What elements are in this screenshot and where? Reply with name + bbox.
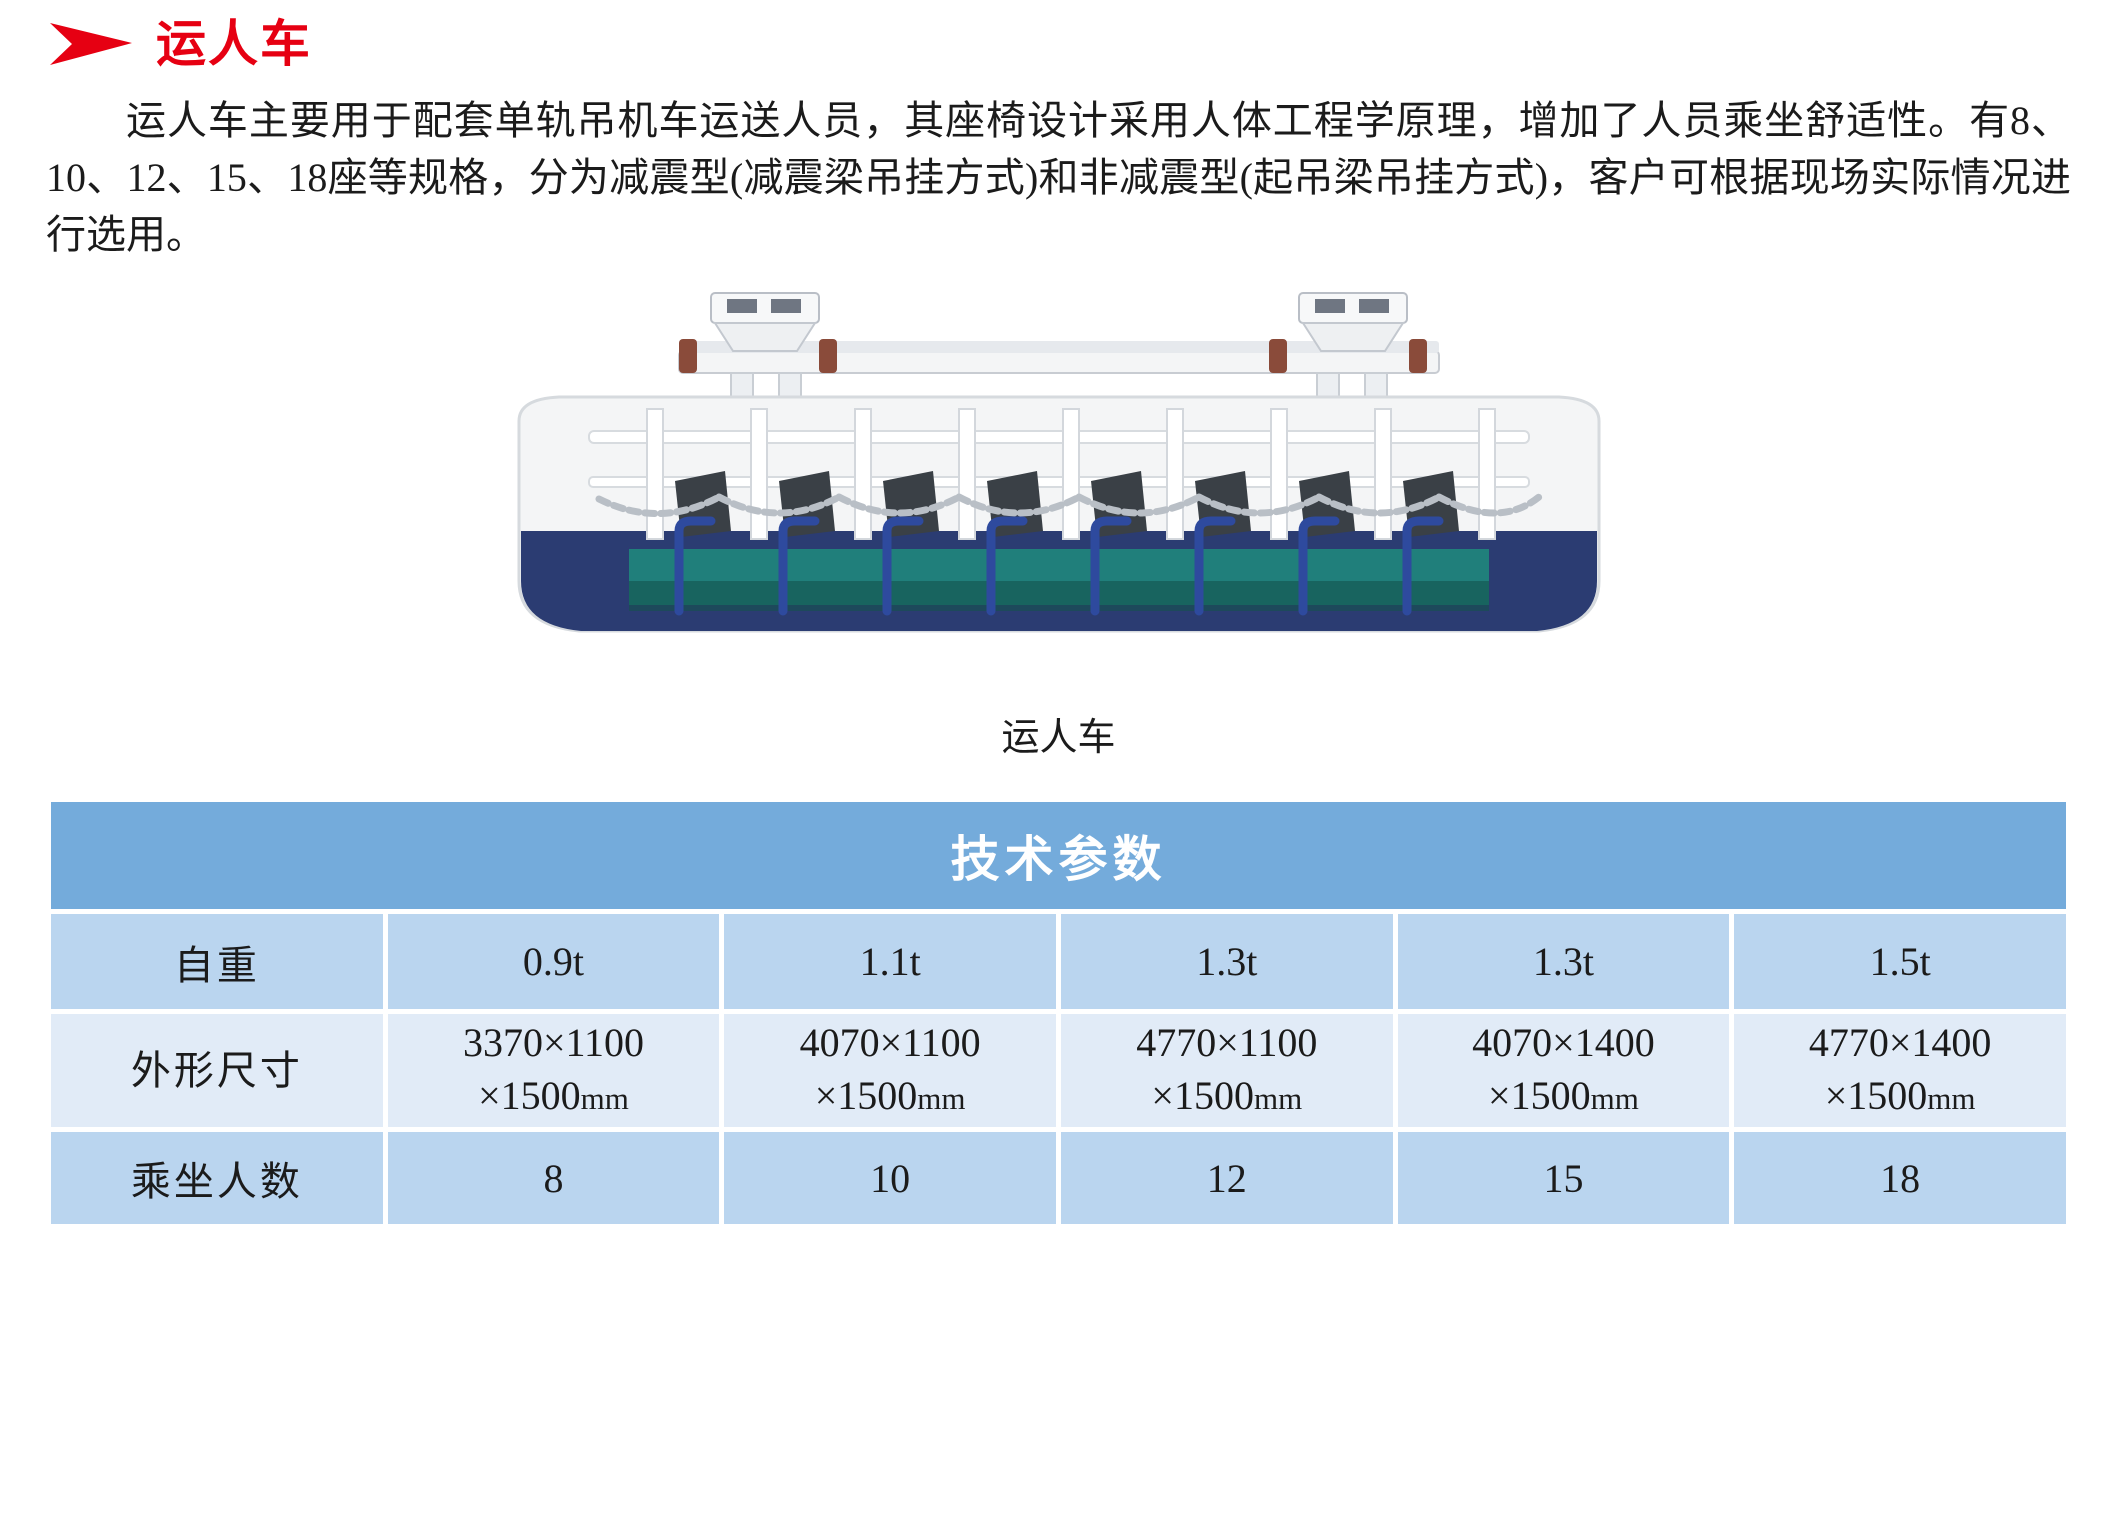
cell-seats-2: 10 — [724, 1132, 1056, 1224]
figure-caption: 运人车 — [0, 719, 2117, 757]
dimensions-unit-5: mm — [1927, 1081, 1975, 1116]
dimensions-height-5: ×1500 — [1825, 1073, 1928, 1118]
dimensions-line-2: ×1500mm — [724, 1069, 1056, 1125]
dimensions-line-2: ×1500mm — [1398, 1069, 1730, 1125]
cell-self-weight-2: 1.1t — [724, 914, 1056, 1009]
table-header-row: 技术参数 — [51, 802, 2066, 909]
dimensions-line-2: ×1500mm — [1734, 1069, 2066, 1125]
cell-dimensions-5: 4770×1400 ×1500mm — [1734, 1014, 2066, 1127]
row-label-seats: 乘坐人数 — [51, 1132, 383, 1224]
cell-self-weight-3: 1.3t — [1061, 914, 1393, 1009]
dimensions-line-1: 4070×1100 — [724, 1016, 1056, 1069]
dimensions-height-1: ×1500 — [478, 1073, 581, 1118]
technical-parameters-table: 技术参数 自重 0.9t 1.1t 1.3t 1.3t 1.5t 外形尺寸 33… — [46, 797, 2071, 1229]
table-title: 技术参数 — [51, 802, 2066, 909]
dimensions-line-2: ×1500mm — [1061, 1069, 1393, 1125]
cell-self-weight-5: 1.5t — [1734, 914, 2066, 1009]
dimensions-height-2: ×1500 — [815, 1073, 918, 1118]
intro-paragraph-block: 运人车主要用于配套单轨吊机车运送人员，其座椅设计采用人体工程学原理，增加了人员乘… — [46, 92, 2071, 263]
table-row-self-weight: 自重 0.9t 1.1t 1.3t 1.3t 1.5t — [51, 914, 2066, 1009]
cell-seats-3: 12 — [1061, 1132, 1393, 1224]
dimensions-line-1: 4770×1100 — [1061, 1016, 1393, 1069]
dimensions-unit-4: mm — [1591, 1081, 1639, 1116]
dimensions-line-1: 3370×1100 — [388, 1016, 720, 1069]
page-heading: 运人车 — [0, 0, 2117, 70]
dimensions-height-4: ×1500 — [1488, 1073, 1591, 1118]
cell-dimensions-4: 4070×1400 ×1500mm — [1398, 1014, 1730, 1127]
product-photo — [479, 281, 1639, 691]
cell-seats-1: 8 — [388, 1132, 720, 1224]
dimensions-line-1: 4070×1400 — [1398, 1016, 1730, 1069]
table-row-dimensions: 外形尺寸 3370×1100 ×1500mm 4070×1100 ×1500mm… — [51, 1014, 2066, 1127]
cell-dimensions-1: 3370×1100 ×1500mm — [388, 1014, 720, 1127]
dimensions-line-2: ×1500mm — [388, 1069, 720, 1125]
page-title: 运人车 — [156, 19, 312, 69]
intro-paragraph: 运人车主要用于配套单轨吊机车运送人员，其座椅设计采用人体工程学原理，增加了人员乘… — [46, 92, 2071, 263]
table-row-seats: 乘坐人数 8 10 12 15 18 — [51, 1132, 2066, 1224]
cell-seats-5: 18 — [1734, 1132, 2066, 1224]
dimensions-unit-3: mm — [1254, 1081, 1302, 1116]
personnel-carrier-illustration — [479, 281, 1639, 691]
cell-self-weight-1: 0.9t — [388, 914, 720, 1009]
dimensions-unit-1: mm — [581, 1081, 629, 1116]
cell-dimensions-2: 4070×1100 ×1500mm — [724, 1014, 1056, 1127]
row-label-dimensions: 外形尺寸 — [51, 1014, 383, 1127]
cabin-shell — [519, 397, 1599, 631]
suspension-beam — [679, 293, 1439, 411]
dimensions-line-1: 4770×1400 — [1734, 1016, 2066, 1069]
red-triangle-arrow-icon — [48, 21, 134, 67]
cell-self-weight-4: 1.3t — [1398, 914, 1730, 1009]
row-label-self-weight: 自重 — [51, 914, 383, 1009]
dimensions-height-3: ×1500 — [1151, 1073, 1254, 1118]
cell-dimensions-3: 4770×1100 ×1500mm — [1061, 1014, 1393, 1127]
dimensions-unit-2: mm — [917, 1081, 965, 1116]
cell-seats-4: 15 — [1398, 1132, 1730, 1224]
figure-block: 运人车 — [0, 281, 2117, 757]
